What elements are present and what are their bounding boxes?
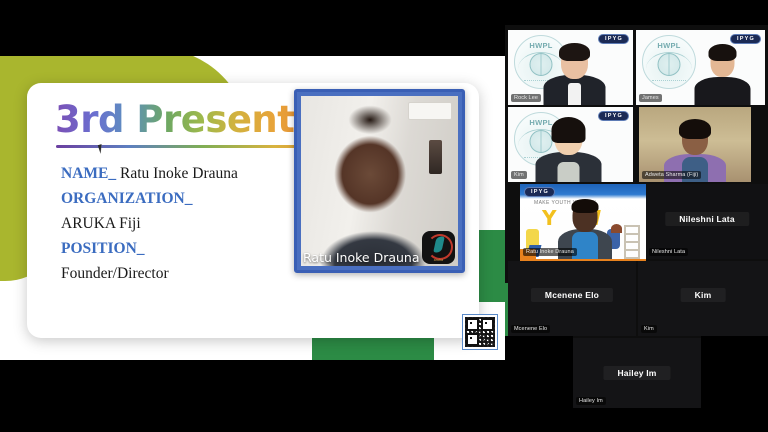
figure-hair xyxy=(572,199,599,213)
ipyg-badge: IPYG xyxy=(524,187,555,197)
participant-grid: HWPL IPYG Rock Lee HWPL xyxy=(505,25,768,407)
grid-edge-green-strip xyxy=(505,283,508,343)
detail-label-position: POSITION_ xyxy=(61,240,145,257)
participant-name-label: Adweta Sharma (Fiji) xyxy=(642,171,701,179)
figure-hair xyxy=(559,43,590,61)
presenter-photo-caption: Ratu Inoke Drauna xyxy=(303,250,420,265)
participant-name-label: Mcenene Elo xyxy=(511,325,550,333)
figure-body xyxy=(695,77,751,105)
participant-name-plate: Mcenene Elo xyxy=(531,288,613,302)
presenter-details: NAME_ Ratu Inoke Drauna ORGANIZATION_ AR… xyxy=(61,161,301,286)
participant-name-label: James xyxy=(639,94,662,102)
ipyg-badge: IPYG xyxy=(598,34,629,44)
qr-eye-top-left xyxy=(466,318,479,331)
ipyg-badge: IPYG xyxy=(598,111,629,121)
qr-eye-bottom-left xyxy=(466,333,479,346)
detail-label-name: NAME_ xyxy=(61,165,116,182)
detail-row-organization-value: ARUKA Fiji xyxy=(61,211,301,236)
participant-name-label: Ratu Inoke Drauna xyxy=(523,248,577,256)
screen: 3rd Presenter NAME_ Ratu Inoke Drauna OR… xyxy=(0,0,768,432)
figure-hair xyxy=(709,44,737,61)
aruka-logo-icon: aruka xyxy=(422,231,455,264)
detail-value-name: Ratu Inoke Drauna xyxy=(120,165,238,182)
logo-text: aruka xyxy=(422,258,455,262)
detail-row-position-label: POSITION_ xyxy=(61,236,301,261)
detail-value-organization: ARUKA Fiji xyxy=(61,215,141,232)
participant-name-label: Kim xyxy=(641,325,657,333)
participant-tile-rock-lee[interactable]: HWPL IPYG Rock Lee xyxy=(508,30,633,105)
slide-card: 3rd Presenter NAME_ Ratu Inoke Drauna OR… xyxy=(27,83,479,338)
letterbox-block-left xyxy=(505,336,573,407)
figure-collar xyxy=(558,162,580,182)
presenter-photo: Ratu Inoke Drauna aruka xyxy=(294,89,465,273)
participant-name-plate: Hailey Im xyxy=(603,366,670,380)
detail-row-name: NAME_ Ratu Inoke Drauna xyxy=(61,161,301,186)
participant-name-label: Rock Lee xyxy=(511,94,541,102)
participant-name-label: Hailey Im xyxy=(576,397,606,405)
ipyg-badge: IPYG xyxy=(730,34,761,44)
figure-hair xyxy=(679,119,711,139)
participant-tile-nileshni-lata[interactable]: Nileshni Lata Nileshni Lata xyxy=(646,184,768,259)
participant-name-plate: Kim xyxy=(681,288,726,302)
participant-name-label: Nileshni Lata xyxy=(649,248,688,256)
participant-tile-kim-name[interactable]: Kim Kim xyxy=(638,261,768,336)
participant-tile-ratu-inoke-drauna[interactable]: MAKE YOUTH YELLOW Y W IPYG Ratu Inoke Dr… xyxy=(520,184,646,261)
detail-row-position-value: Founder/Director xyxy=(61,261,301,286)
participant-name-label: Kim xyxy=(511,171,527,179)
figure-hair xyxy=(552,117,586,143)
participant-tile-adweta-sharma[interactable]: Adweta Sharma (Fiji) xyxy=(639,107,751,182)
qr-code-icon xyxy=(462,314,498,350)
participant-tile-james[interactable]: HWPL IPYG James xyxy=(636,30,765,105)
figure-shirt xyxy=(568,83,581,105)
detail-label-organization: ORGANIZATION_ xyxy=(61,190,192,207)
letterbox-block-right xyxy=(701,336,768,407)
participant-tile-kim-video[interactable]: HWPL IPYG Kim xyxy=(508,107,633,182)
detail-value-position: Founder/Director xyxy=(61,265,169,282)
participant-tile-hailey-im[interactable]: Hailey Im Hailey Im xyxy=(573,338,701,408)
participant-tile-mcenene-elo[interactable]: Mcenene Elo Mcenene Elo xyxy=(508,261,636,336)
participant-name-plate: Nileshni Lata xyxy=(665,212,749,226)
shared-slide[interactable]: 3rd Presenter NAME_ Ratu Inoke Drauna OR… xyxy=(0,56,512,360)
qr-eye-top-right xyxy=(481,318,494,331)
detail-row-organization-label: ORGANIZATION_ xyxy=(61,186,301,211)
